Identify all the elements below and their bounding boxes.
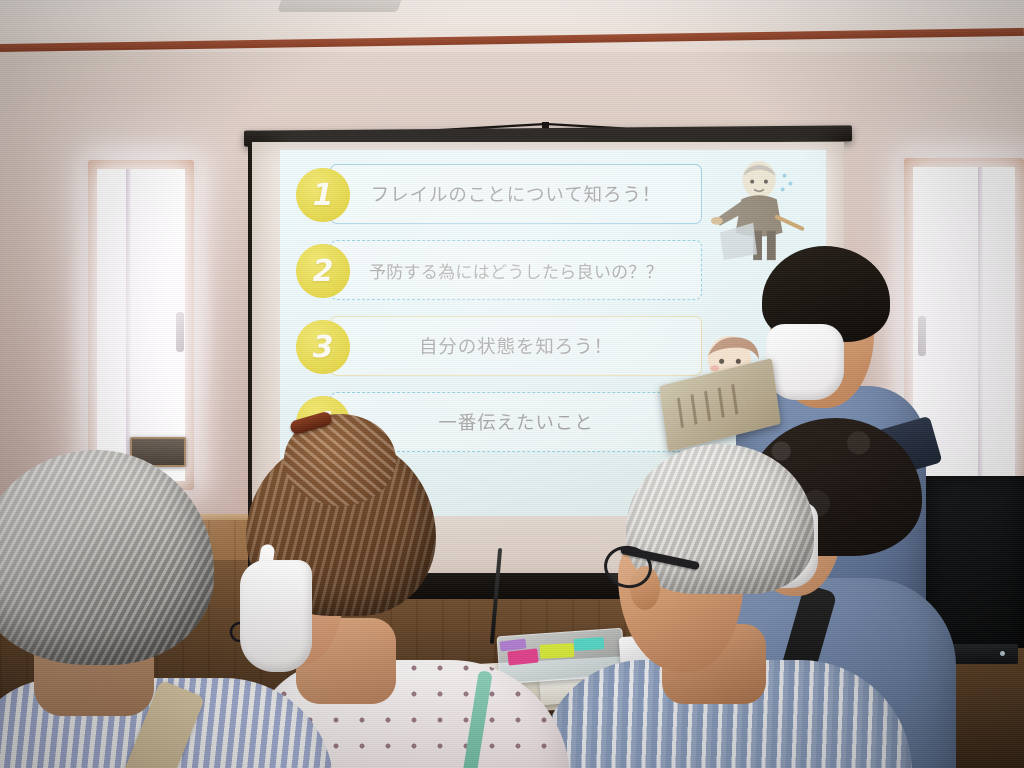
left-attendee-gray-hair [0, 450, 214, 665]
clipboard-paper-text [677, 381, 749, 428]
slide-row-2-label: 予防する為にはどうしたら良いの？？ [369, 258, 663, 283]
slide-row-1: 1 フレイルのことについて知ろう！ [296, 164, 696, 226]
slide-row-3: 3 自分の状態を知ろう！ [296, 316, 696, 378]
attendee-elderly-man-glasses [596, 438, 896, 768]
slide-row-1-box: フレイルのことについて知ろう！ [330, 164, 702, 224]
presenter-face-mask [766, 324, 844, 400]
slide-row-3-box: 自分の状態を知ろう！ [330, 316, 702, 376]
slide-row-1-number: 1 [296, 168, 350, 222]
slide-row-2-box: 予防する為にはどうしたら良いの？？ [330, 240, 702, 300]
av-receiver-led-indicator [1000, 651, 1005, 656]
ceiling-light-fixture [277, 0, 402, 12]
seminar-room-photo: 1 フレイルのことについて知ろう！ 2 予防する為にはどうしたら良いの？？ 3 … [0, 0, 1024, 768]
attendee-gray-hair-left [0, 430, 304, 768]
pencil-case-marker-yellow [540, 643, 575, 659]
slide-row-3-label: 自分の状態を知ろう！ [419, 333, 613, 359]
slide-row-2-number: 2 [296, 244, 350, 298]
window-right-mullion [978, 167, 983, 497]
slide-row-1-label: フレイルのことについて知ろう！ [371, 181, 661, 207]
slide-row-3-number: 3 [296, 320, 350, 374]
slide-row-2: 2 予防する為にはどうしたら良いの？？ [296, 240, 696, 302]
window-left-handle[interactable] [176, 312, 184, 352]
